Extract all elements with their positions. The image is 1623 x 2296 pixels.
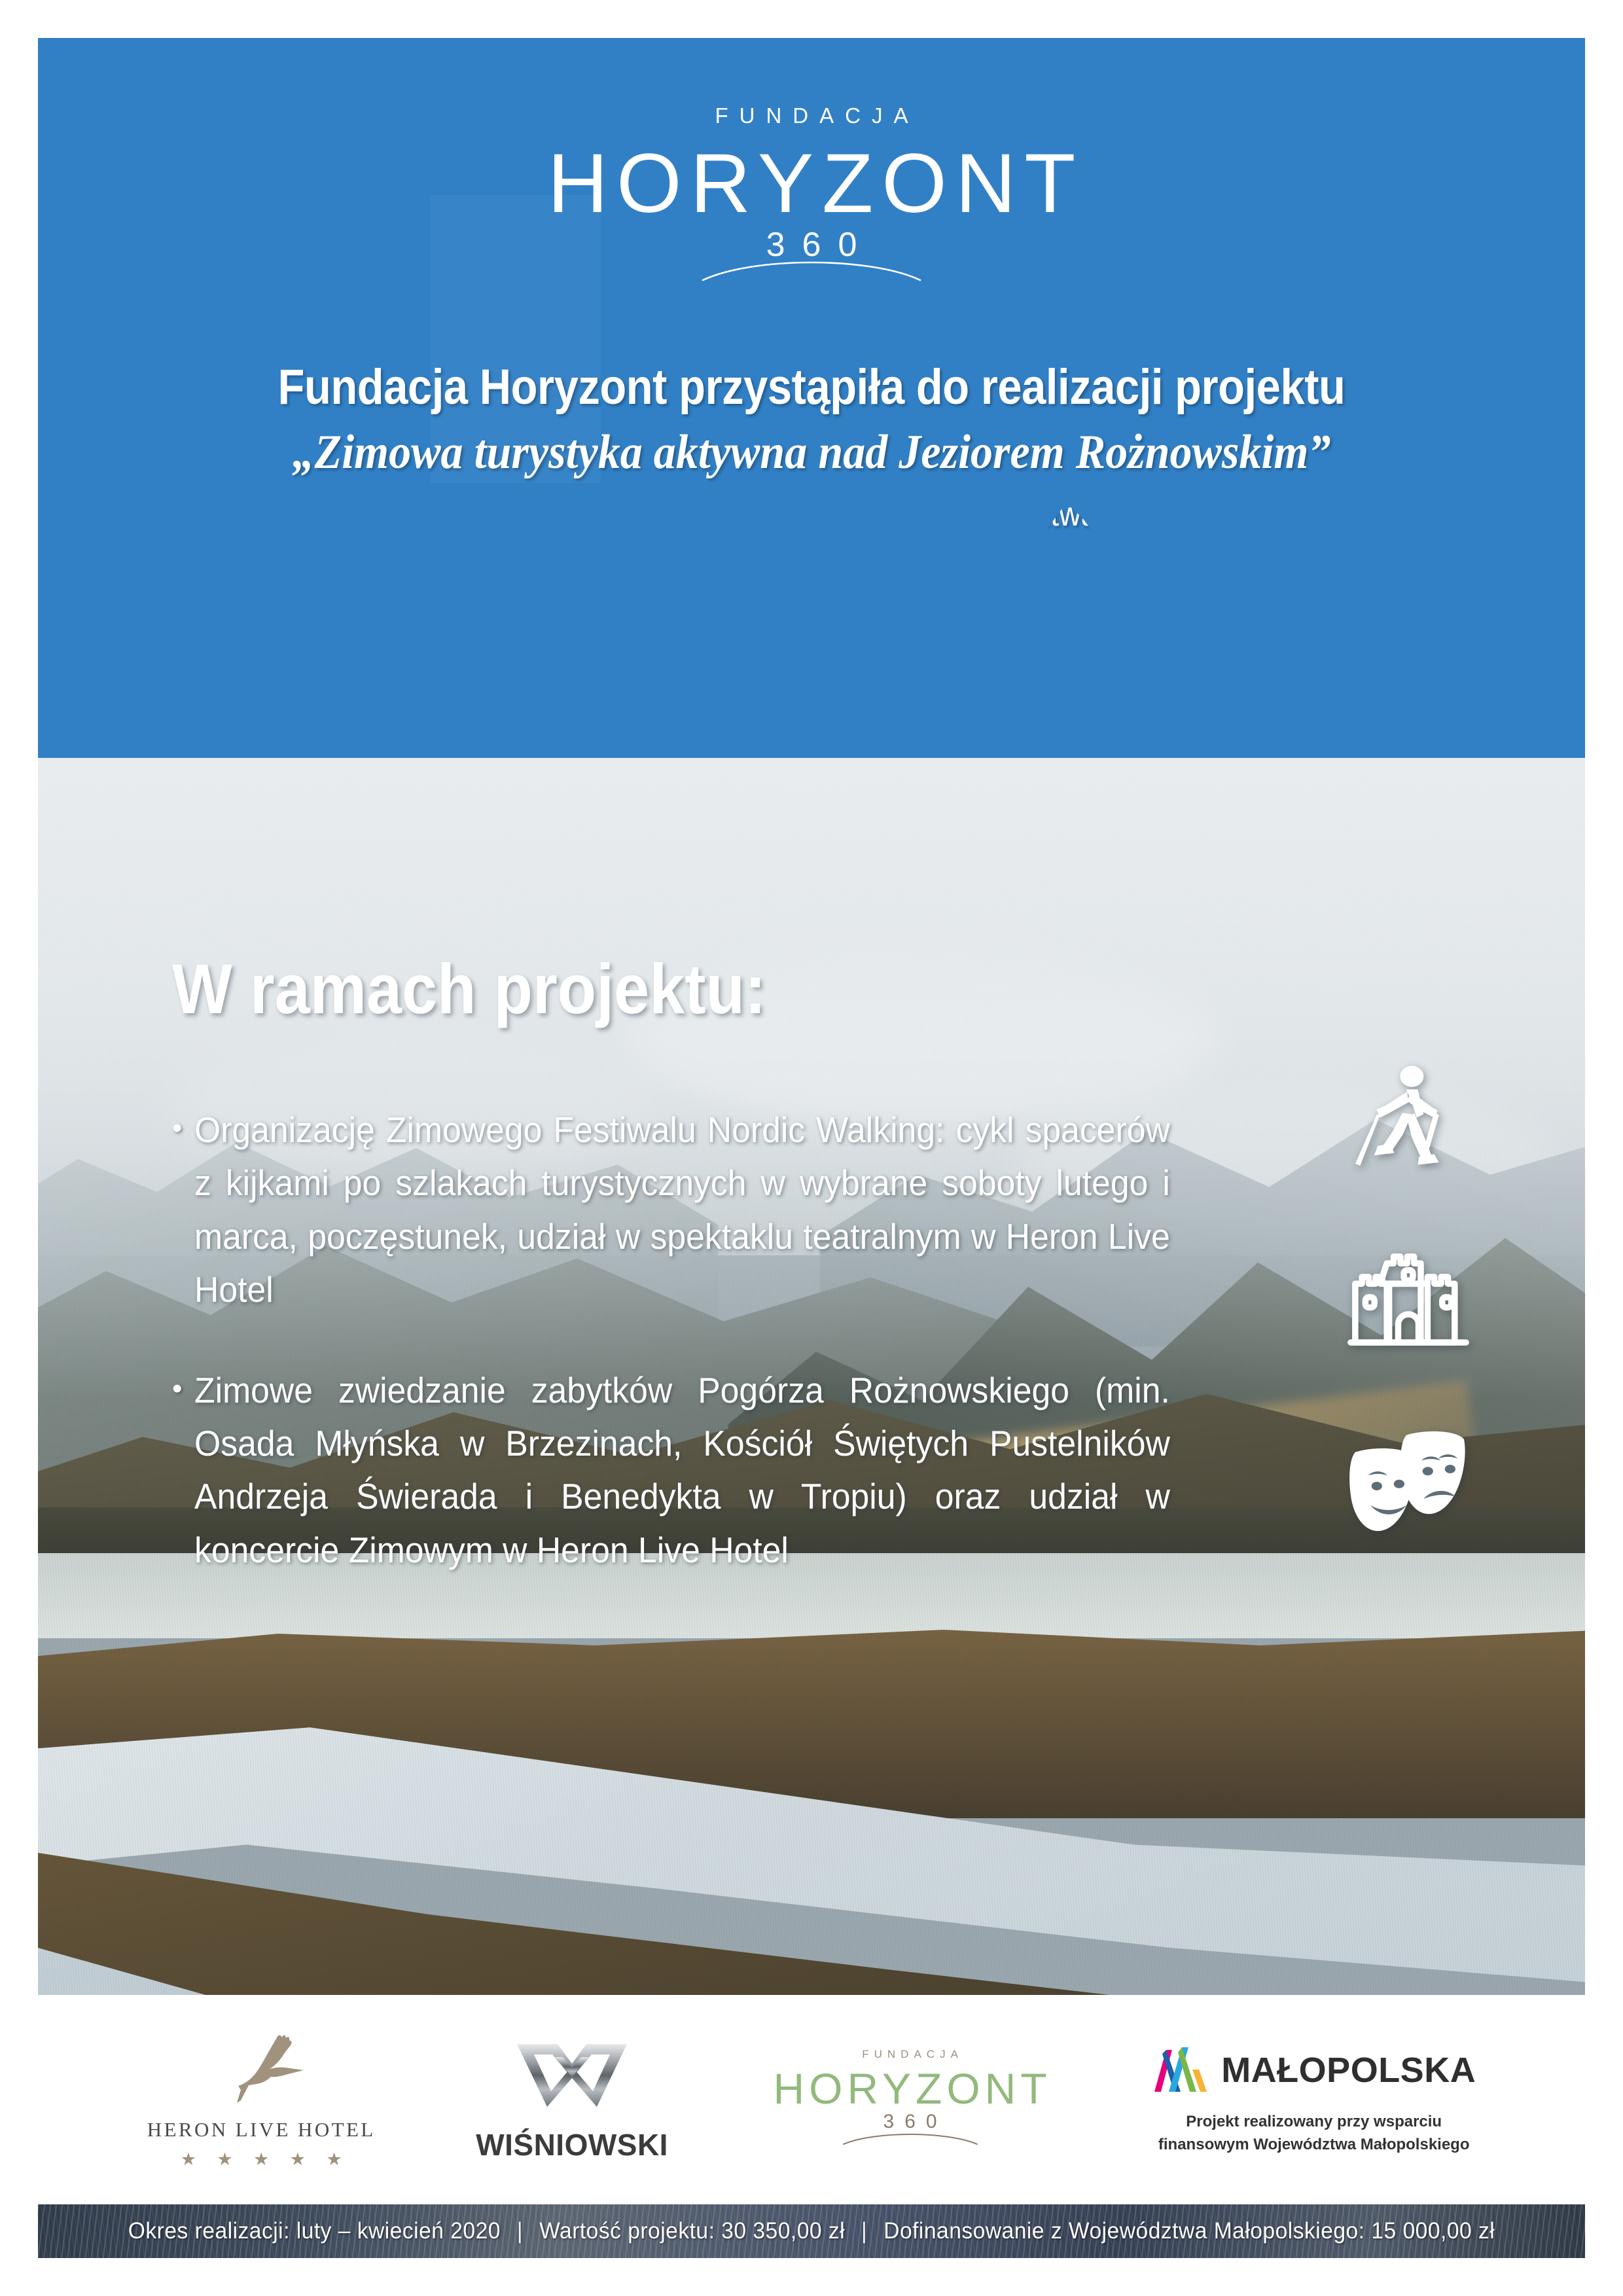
heron-bird-icon xyxy=(212,2030,310,2110)
project-value-text: Wartość projektu: 30 350,00 zł xyxy=(539,2218,845,2244)
theater-masks-icon xyxy=(1323,1395,1493,1559)
bullet-marker-icon: • xyxy=(172,1103,194,1317)
malopolska-support-text: Projekt realizowany przy wsparciu finans… xyxy=(1158,2111,1470,2157)
bullet-marker-icon: • xyxy=(172,1364,194,1577)
malopolska-name-label: MAŁOPOLSKA xyxy=(1221,2050,1476,2090)
horyzont-footer-360-block: 360 xyxy=(873,2111,948,2151)
activity-icon-column xyxy=(1323,1039,1520,1573)
section-title: W ramach projektu: xyxy=(172,948,766,1030)
brand-horyzont-wordmark: HORYZONT xyxy=(38,139,1585,229)
brand-logo-header: FUNDACJA HORYZONT 360 xyxy=(38,103,1585,304)
heron-live-hotel-logo: HERON LIVE HOTEL ★ ★ ★ ★ ★ xyxy=(147,2030,376,2170)
list-item: • Organizację Zimowego Festiwalu Nordic … xyxy=(172,1103,1232,1317)
brand-arc-icon xyxy=(700,253,923,286)
header-blue-panel: FUNDACJA HORYZONT 360 Fundacja Horyzont … xyxy=(38,38,1585,758)
project-scope-section: W ramach projektu: • Organizację Zimoweg… xyxy=(38,758,1585,1995)
headline-project-title: „Zimowa turystyka aktywna nad Jeziorem R… xyxy=(100,425,1524,480)
heron-star-rating: ★ ★ ★ ★ ★ xyxy=(173,2149,350,2170)
horyzont-footer-fundacja-label: FUNDACJA xyxy=(857,2048,963,2061)
malopolska-support-line-1: Projekt realizowany przy wsparciu xyxy=(1158,2111,1470,2134)
list-item: • Zimowe zwiedzanie zabytków Pogórza Roż… xyxy=(172,1364,1232,1577)
brand-360-block: 360 xyxy=(38,225,1585,304)
wisniowski-w-mark-icon xyxy=(514,2037,630,2118)
poster-page: FUNDACJA HORYZONT 360 Fundacja Horyzont … xyxy=(38,38,1585,2258)
malopolska-logo: MAŁOPOLSKA Projekt realizowany przy wspa… xyxy=(1152,2043,1476,2157)
project-period-text: Okres realizacji: luty – kwiecień 2020 xyxy=(128,2218,501,2244)
wisniowski-name-label: WIŚNIOWSKI xyxy=(476,2127,668,2162)
bullet-text: Zimowe zwiedzanie zabytków Pogórza Rożno… xyxy=(194,1364,1170,1577)
project-details-bar: Okres realizacji: luty – kwiecień 2020 |… xyxy=(38,2204,1585,2258)
wisniowski-logo: WIŚNIOWSKI xyxy=(476,2037,668,2162)
bullet-text: Organizację Zimowego Festiwalu Nordic Wa… xyxy=(194,1103,1170,1317)
scope-bullet-list: • Organizację Zimowego Festiwalu Nordic … xyxy=(172,1103,1232,1624)
sponsor-logo-bar: HERON LIVE HOTEL ★ ★ ★ ★ ★ xyxy=(38,1995,1585,2204)
malopolska-m-mark-icon xyxy=(1152,2043,1209,2098)
malopolska-logo-row: MAŁOPOLSKA xyxy=(1152,2043,1476,2098)
mountain-ridge-divider xyxy=(38,483,1585,758)
malopolska-support-line-2: finansowym Województwa Małopolskiego xyxy=(1158,2134,1470,2157)
project-funding-text: Dofinansowanie z Województwa Małopolskie… xyxy=(883,2218,1495,2244)
headline-line-1: Fundacja Horyzont przystąpiła do realiza… xyxy=(131,359,1492,416)
bottom-bar-text: Okres realizacji: luty – kwiecień 2020 |… xyxy=(69,2204,1554,2258)
horyzont-footer-logo: FUNDACJA HORYZONT 360 xyxy=(769,2048,1052,2152)
horyzont-footer-arc-icon xyxy=(842,2128,979,2149)
brand-fundacja-label: FUNDACJA xyxy=(38,103,1585,128)
castle-monument-icon xyxy=(1323,1217,1493,1381)
bottom-bar-separator: | xyxy=(845,2218,883,2244)
bottom-bar-separator: | xyxy=(501,2218,539,2244)
nordic-walking-icon xyxy=(1323,1039,1493,1203)
horyzont-footer-wordmark: HORYZONT xyxy=(769,2065,1052,2113)
heron-name-label: HERON LIVE HOTEL xyxy=(147,2118,376,2142)
